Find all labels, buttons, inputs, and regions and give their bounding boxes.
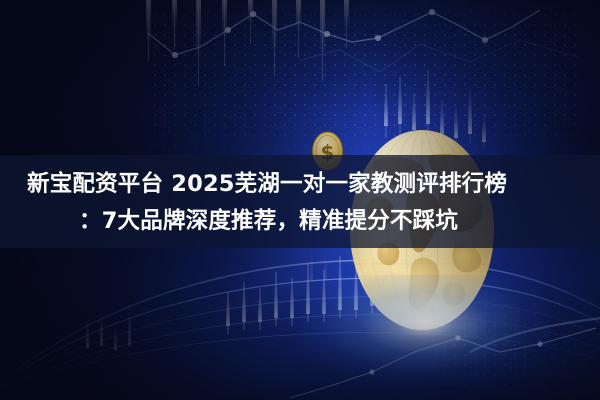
headline-line-2: ：7大品牌深度推荐，精准提分不踩坑 xyxy=(79,202,458,240)
headline: 新宝配资平台 2025芜湖一对一家教测评排行榜 ：7大品牌深度推荐，精准提分不踩… xyxy=(0,155,600,248)
finance-banner: $ 新宝配资平台 2025芜湖一对一家教测评排行榜 ：7大品牌深度推荐，精准提分… xyxy=(0,0,600,400)
headline-line-1: 新宝配资平台 2025芜湖一对一家教测评排行榜 xyxy=(27,165,507,203)
